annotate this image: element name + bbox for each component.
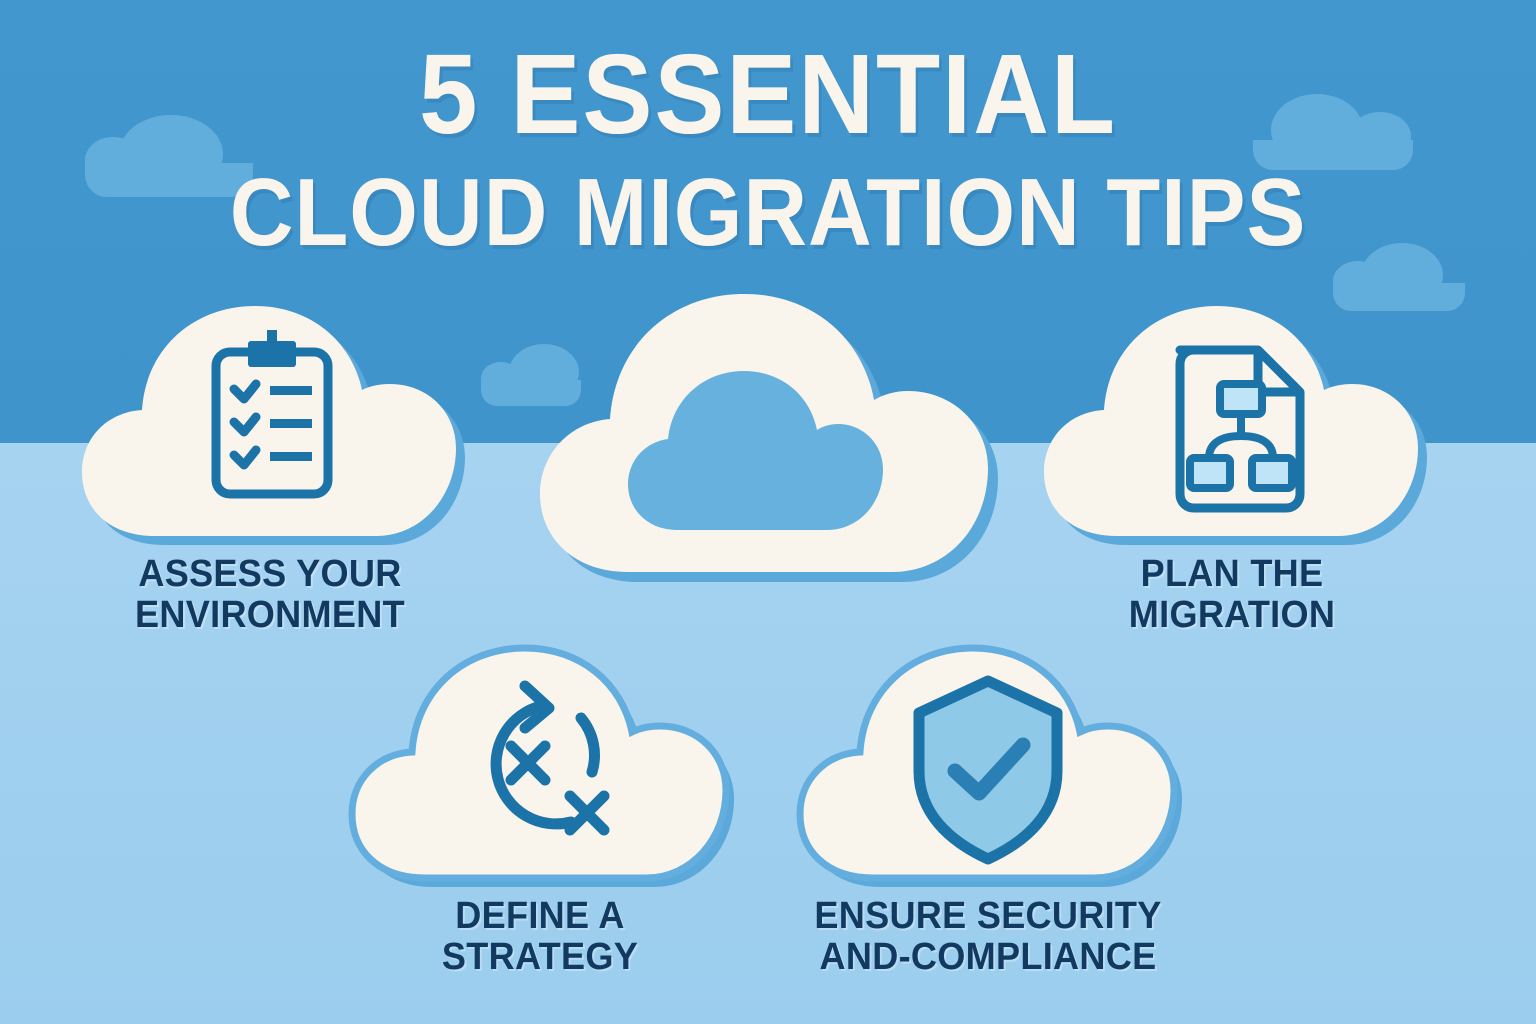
tip-card-plan-migration[interactable]: PLAN THE MIGRATION bbox=[1022, 286, 1442, 546]
cloud-shape bbox=[778, 628, 1198, 888]
tip-card-label-strategy: DEFINE A STRATEGY bbox=[341, 896, 740, 978]
tip-card-define-strategy[interactable]: DEFINE A STRATEGY bbox=[330, 628, 750, 888]
tip-card-ensure-security[interactable]: ENSURE SECURITY AND-COMPLIANCE bbox=[778, 628, 1198, 888]
cloud-shape bbox=[520, 272, 1020, 602]
cloud-shape bbox=[330, 628, 750, 888]
shield-check-icon bbox=[919, 681, 1057, 859]
tip-card-assess-environment[interactable]: ASSESS YOUR ENVIRONMENT bbox=[60, 286, 480, 546]
center-cloud-graphic bbox=[520, 272, 1020, 602]
cloud-shape bbox=[60, 286, 480, 546]
tip-card-label-security: ENSURE SECURITY AND-COMPLIANCE bbox=[789, 896, 1188, 978]
bg-cloud-upper-left-icon bbox=[85, 163, 253, 197]
cloud-shape bbox=[1022, 286, 1442, 546]
bg-cloud-top-right-icon bbox=[1253, 140, 1413, 170]
infographic-poster: 5 ESSENTIAL CLOUD MIGRATION TIPS ASSESS … bbox=[0, 0, 1536, 1024]
tip-card-label-plan: PLAN THE MIGRATION bbox=[1033, 554, 1432, 636]
tip-card-label-assess: ASSESS YOUR ENVIRONMENT bbox=[71, 554, 470, 636]
